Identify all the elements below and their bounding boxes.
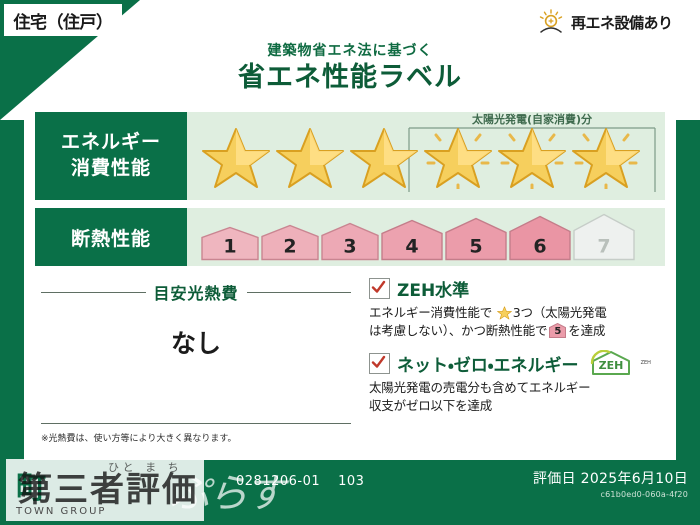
check-icon [371,355,386,370]
criteria-net-zero-energy: ネット・ゼロ・エネルギー ZEH ZEH 太陽光発電の売電分も含めてエネルギー … [369,350,665,415]
insulation-grade-value: 5 [469,236,482,258]
checkbox-net-zero-energy[interactable] [369,353,390,374]
insulation-grade-badge: 2 [261,225,319,261]
insulation-grade-badge: 5 [445,218,507,261]
utility-cost-heading: 目安光熱費 [41,280,351,304]
footer-eval-date-value: 2025年6月10日 [581,471,688,487]
desc-text-2: 3つ（太陽光発電 [513,305,607,320]
criteria-zeh-level-desc: エネルギー消費性能で 3つ（太陽光発電 は考慮しない）、かつ断熱性能で5を達成 [369,304,665,340]
star-filled [349,123,419,189]
zeh-logo-sublabel: ZEH [641,360,651,366]
insulation-grade-badge: 6 [509,216,571,261]
star-icon [497,305,512,320]
footer-hash: c61b0ed0-060a-4f20 [533,490,688,499]
star-rating [201,123,641,189]
insulation-grade-value: 1 [223,236,236,258]
criteria-net-zero-desc: 太陽光発電の売電分も含めてエネルギー 収支がゼロ以下を達成 [369,379,665,415]
label-footer: 0281206-01103 評価日 2025年6月10日 c61b0ed0-06… [0,460,700,525]
inline-grade-value: 5 [549,323,566,338]
criteria-zeh-level: ZEH水準 エネルギー消費性能で 3つ（太陽光発電 は考慮しない）、かつ断熱性能… [369,276,665,340]
utility-cost-note: ※光熱費は、使い方等により大きく異なります。 [41,434,351,446]
insulation-label-text: 断熱性能 [71,224,151,251]
insulation-grade-badge: 3 [321,223,379,261]
insulation-performance-row: 断熱性能 1 2 3 [35,208,665,266]
energy-performance-value: 太陽光発電(自家消費)分 [187,112,665,200]
category-tab: 住宅（住戸） [4,4,122,36]
insulation-grade-value: 2 [283,236,296,258]
title-main: 省エネ性能ラベル [0,61,700,95]
insulation-grade-badge: 4 [381,220,443,261]
inline-grade-badge: 5 [549,323,566,338]
insulation-grade-value: 3 [343,236,356,258]
footer-eval-date-label: 評価日 [533,471,576,487]
label-card: エネルギー 消費性能 太陽光発電(自家消費)分 [24,100,676,460]
footer-evaluation: 評価日 2025年6月10日 c61b0ed0-060a-4f20 [533,468,688,499]
svg-text:ZEH: ZEH [598,359,623,372]
footer-document-numbers: 0281206-01103 [236,474,364,489]
zeh-logo-icon: ZEH [589,350,633,376]
criteria-title-row: ネット・ゼロ・エネルギー ZEH ZEH [369,350,665,376]
insulation-grade-badge-inactive: 7 [573,214,635,261]
criteria-title-row: ZEH水準 [369,276,665,301]
sun-icon [537,9,565,35]
insulation-grade-value: 7 [597,236,610,258]
desc-text-1: エネルギー消費性能で [369,305,492,320]
star-filled-solar [571,123,641,189]
category-tab-label: 住宅（住戸） [14,8,113,33]
check-icon [371,280,386,295]
footer-doc-number: 0281206-01 [236,474,320,489]
title-block: 建築物省エネ法に基づく 省エネ性能ラベル [0,44,700,95]
insulation-grade-value: 4 [405,236,418,258]
desc-text-1: 太陽光発電の売電分も含めてエネルギー [369,380,590,395]
insulation-grade-value: 6 [533,236,546,258]
star-filled-solar [423,123,493,189]
star-filled [275,123,345,189]
title-subtitle: 建築物省エネ法に基づく [0,44,700,59]
utility-cost-section: 目安光熱費 なし ※光熱費は、使い方等により大きく異なります。 [35,276,357,448]
lower-section: 目安光熱費 なし ※光熱費は、使い方等により大きく異なります。 [35,276,665,448]
footer-eval-date: 評価日 2025年6月10日 [533,468,688,488]
insulation-performance-value: 1 2 3 4 [187,208,665,266]
star-filled [201,123,271,189]
criteria-section: ZEH水準 エネルギー消費性能で 3つ（太陽光発電 は考慮しない）、かつ断熱性能… [357,276,665,448]
utility-cost-divider [41,423,351,424]
renewable-equipment-badge: 再エネ設備あり [530,5,695,39]
insulation-grade-scale: 1 2 3 4 [201,214,635,261]
renewable-badge-label: 再エネ設備あり [571,12,673,33]
rule-right [247,292,352,293]
desc-text-4: を達成 [568,323,605,338]
checkbox-zeh-level[interactable] [369,278,390,299]
energy-performance-row: エネルギー 消費性能 太陽光発電(自家消費)分 [35,112,665,200]
energy-performance-label: 住宅（住戸） 再エネ設備あり 建築物省エネ法に基づく 省エネ性能ラベル エネルギ… [0,0,700,525]
footer-doc-number-2: 103 [338,474,364,489]
criteria-net-zero-label: ネット・ゼロ・エネルギー [397,351,579,376]
criteria-zeh-level-label: ZEH水準 [397,276,469,301]
desc-text-2: 収支がゼロ以下を達成 [369,398,492,413]
desc-text-3: は考慮しない）、かつ断熱性能で [369,323,547,338]
energy-label-line2: 消費性能 [71,156,151,182]
insulation-grade-badge: 1 [201,227,259,261]
star-filled-solar [497,123,567,189]
energy-performance-label: エネルギー 消費性能 [35,112,187,200]
insulation-performance-label: 断熱性能 [35,208,187,266]
utility-cost-heading-text: 目安光熱費 [154,280,239,304]
utility-cost-value: なし [35,324,357,360]
rule-left [41,292,146,293]
energy-label-line1: エネルギー [61,130,161,156]
